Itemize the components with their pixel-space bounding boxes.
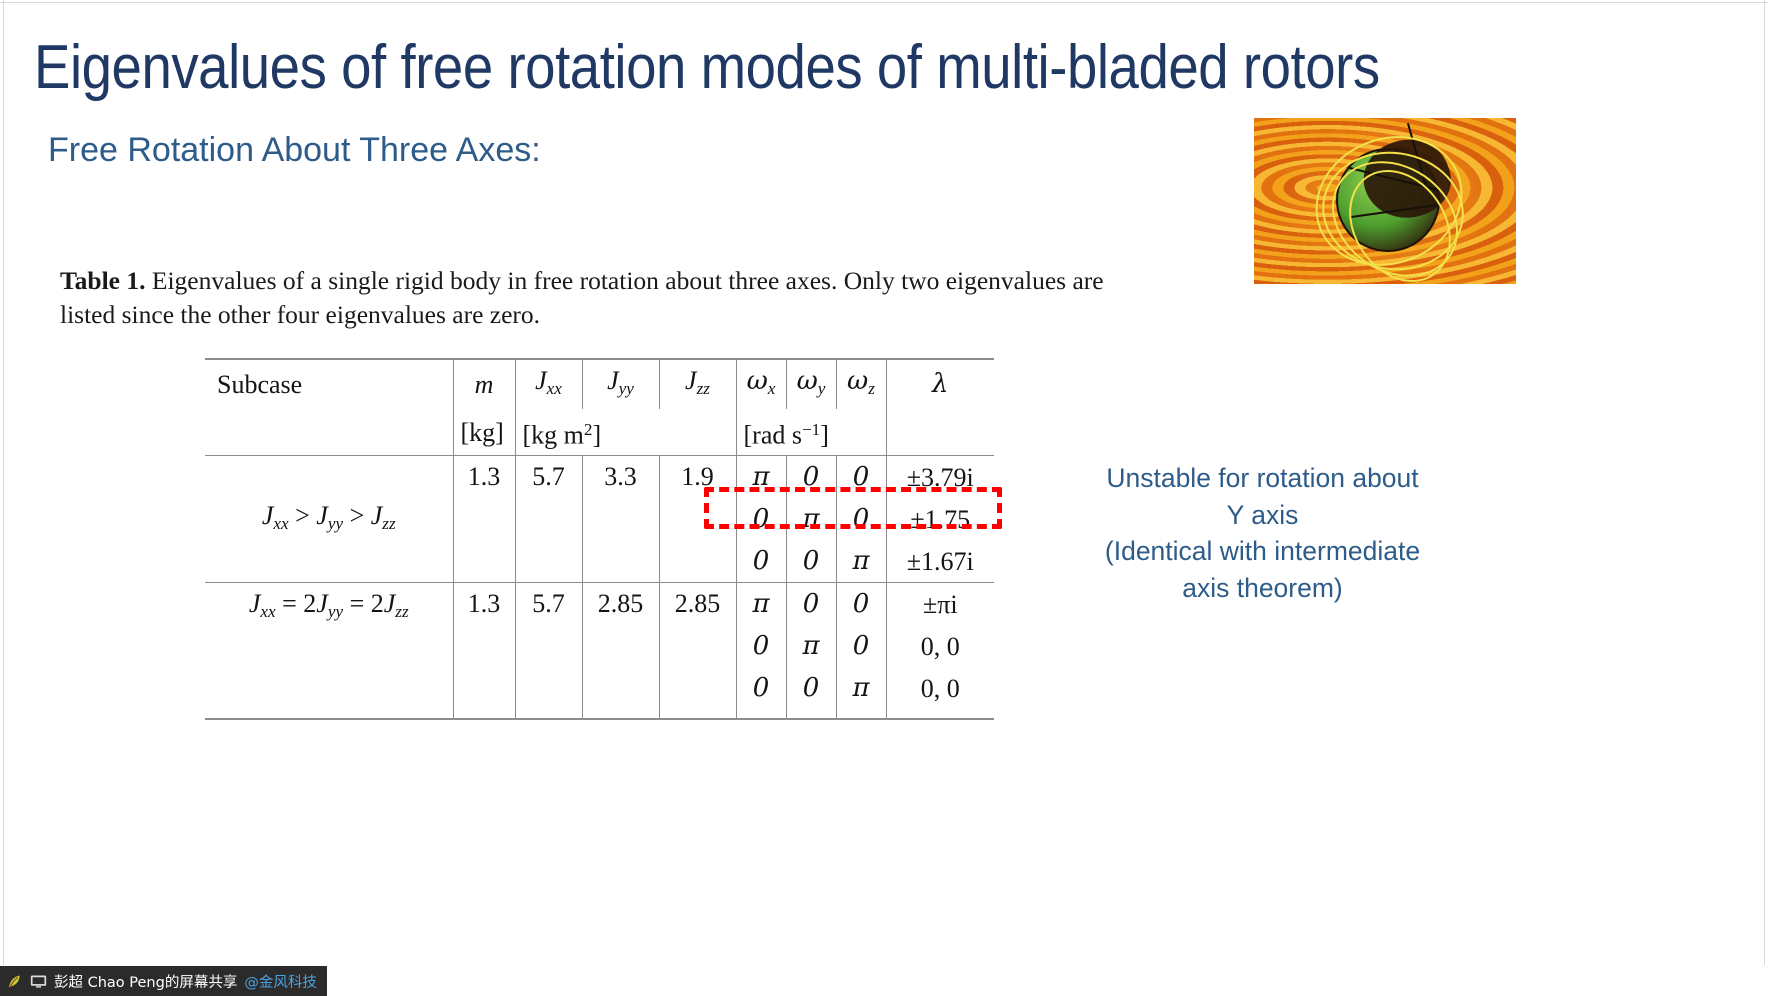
caption-label: Table 1. [60,266,146,295]
bottom-rule-cell [515,709,582,719]
share-text: 彭超 Chao Peng的屏幕共享 [54,971,237,992]
cell-wz: π [836,540,886,583]
cell-lambda: ±1.67i [886,540,994,583]
cell-wy: 0 [786,583,836,626]
slide-border-right [1764,0,1765,965]
cell-wz: π [836,667,886,709]
annotation-text: Unstable for rotation about Y axis (Iden… [1060,460,1465,606]
cell-wy: 0 [786,667,836,709]
cell-wx: π [736,456,786,499]
units-lambda-blank [886,409,994,456]
cell-wx: 0 [736,667,786,709]
bottom-rule-cell [736,709,786,719]
slide-title: Eigenvalues of free rotation modes of mu… [34,32,1477,104]
table-header-row: Subcase m Jxx Jyy Jzz ωx ωy ωz λ [205,359,994,409]
units-omega: [rad s−1] [736,409,886,456]
cell-wz: 0 [836,456,886,499]
slide-border-left [3,0,4,965]
bottom-rule-cell [453,709,515,719]
cell-wy: 0 [786,456,836,499]
slide-border-top [0,2,1768,3]
cell-wy: π [786,498,836,540]
units-inertia: [kg m2] [515,409,736,456]
cell-jxx-1: 5.7 [515,456,582,583]
cell-lambda: 0, 0 [886,667,994,709]
bottom-rule-cell [582,709,659,719]
screen-share-indicator[interactable]: 彭超 Chao Peng的屏幕共享 @金风科技 [0,966,327,996]
header-mass: m [453,359,515,409]
subcase-cell-2: Jxx = 2Jyy = 2Jzz [205,583,453,710]
cell-wy: 0 [786,540,836,583]
subcase-cell-1: Jxx > Jyy > Jzz [205,456,453,583]
slide-canvas: Eigenvalues of free rotation modes of mu… [0,0,1768,996]
cell-lambda: ±3.79i [886,456,994,499]
annotation-line-4: axis theorem) [1060,570,1465,607]
header-omega-x: ωx [736,359,786,409]
cell-lambda: ±πi [886,583,994,626]
share-at-tag: @金风科技 [244,971,317,992]
bottom-rule-cell [786,709,836,719]
cell-wx: 0 [736,498,786,540]
bottom-rule-cell [836,709,886,719]
feather-icon [6,973,23,990]
units-blank [205,409,453,456]
cell-mass-2: 1.3 [453,583,515,710]
cell-lambda: 0, 0 [886,625,994,667]
cell-jzz-1: 1.9 [659,456,736,583]
header-jyy: Jyy [582,359,659,409]
table-bottom-rule [205,709,994,719]
header-omega-z: ωz [836,359,886,409]
cell-wx: 0 [736,625,786,667]
cell-wx: π [736,583,786,626]
screen-share-icon [30,974,47,989]
eigenvalue-table: Subcase m Jxx Jyy Jzz ωx ωy ωz λ [kg] [k… [205,358,994,720]
cell-jxx-2: 5.7 [515,583,582,710]
simulation-image [1254,118,1516,284]
units-mass: [kg] [453,409,515,456]
table-row: Jxx = 2Jyy = 2Jzz 1.3 5.7 2.85 2.85 π 0 … [205,583,994,626]
cell-wz: 0 [836,625,886,667]
annotation-line-1: Unstable for rotation about [1060,460,1465,497]
header-jxx: Jxx [515,359,582,409]
cell-wy: π [786,625,836,667]
header-subcase: Subcase [205,359,453,409]
eigenvalue-table-wrapper: Subcase m Jxx Jyy Jzz ωx ωy ωz λ [kg] [k… [205,358,970,720]
header-jzz: Jzz [659,359,736,409]
cell-wz: 0 [836,583,886,626]
annotation-line-2: Y axis [1060,497,1465,534]
cell-wx: 0 [736,540,786,583]
header-omega-y: ωy [786,359,836,409]
cell-wz: 0 [836,498,886,540]
cell-lambda: ±1.75 [886,498,994,540]
table-caption: Table 1. Eigenvalues of a single rigid b… [60,264,1130,332]
table-row: Jxx > Jyy > Jzz 1.3 5.7 3.3 1.9 π 0 0 ±3… [205,456,994,499]
bottom-rule-cell [659,709,736,719]
cell-jzz-2: 2.85 [659,583,736,710]
bottom-rule-cell [205,709,453,719]
table-units-row: [kg] [kg m2] [rad s−1] [205,409,994,456]
caption-text: Eigenvalues of a single rigid body in fr… [60,266,1104,329]
bottom-rule-cell [886,709,994,719]
header-lambda: λ [886,359,994,409]
cell-mass-1: 1.3 [453,456,515,583]
cell-jyy-1: 3.3 [582,456,659,583]
annotation-line-3: (Identical with intermediate [1060,533,1465,570]
cell-jyy-2: 2.85 [582,583,659,710]
slide-subtitle: Free Rotation About Three Axes: [48,128,541,172]
